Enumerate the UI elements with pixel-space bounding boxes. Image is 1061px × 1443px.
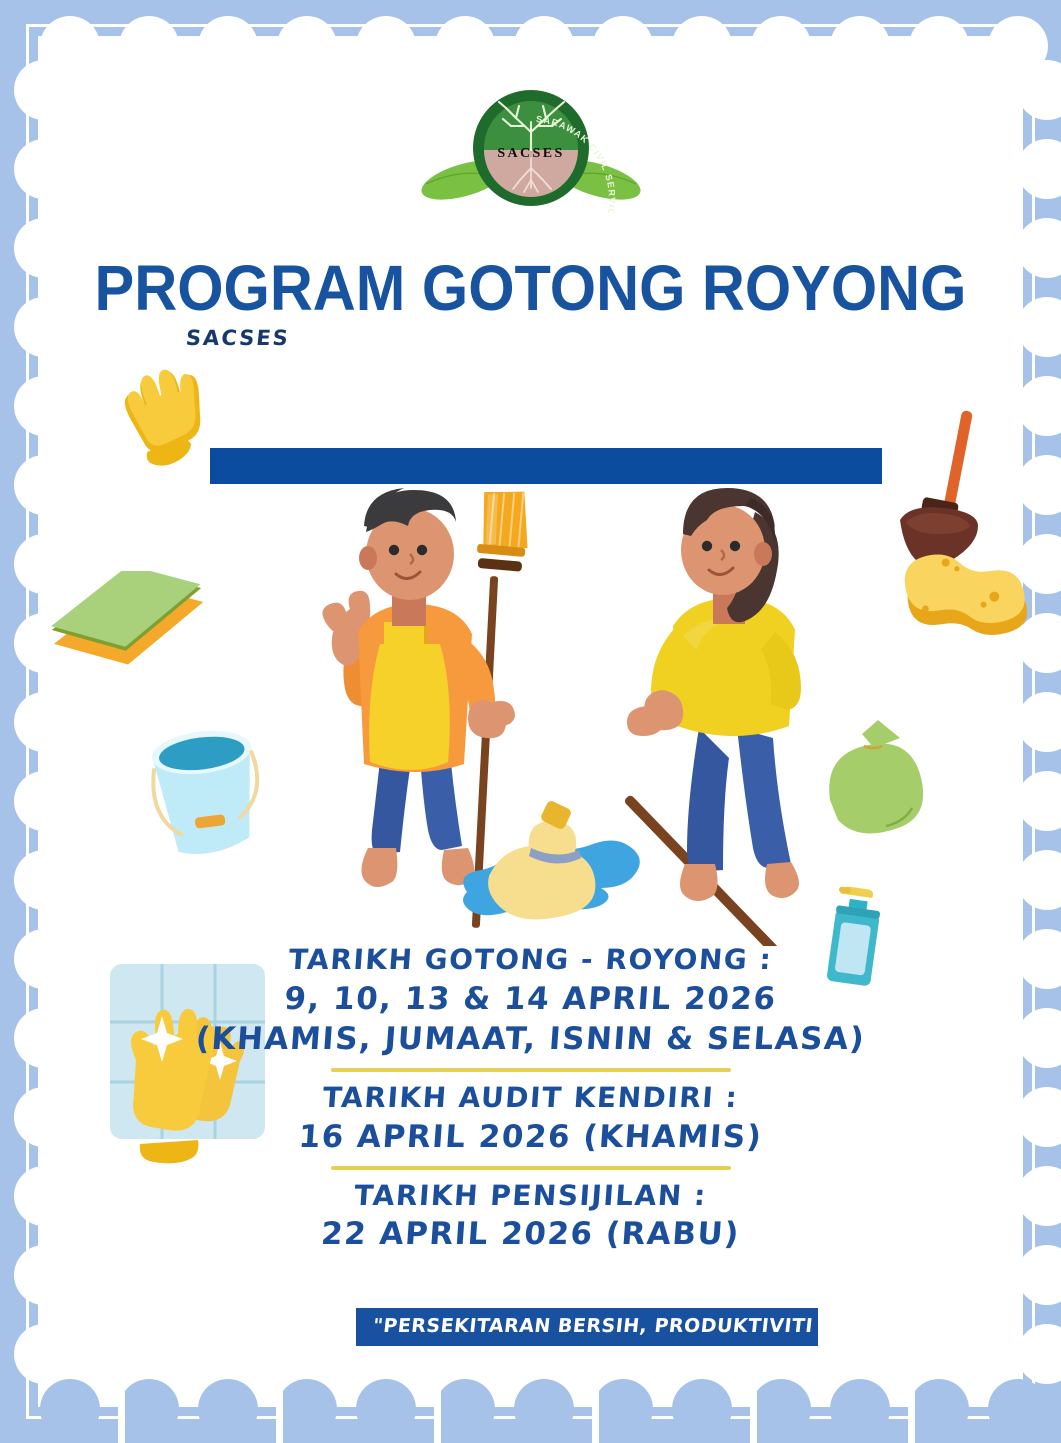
water-bucket-icon — [128, 726, 288, 871]
divider-rule-1 — [331, 1068, 731, 1072]
peanut-sponge-yellow-icon — [894, 528, 1054, 648]
audit-label: TARIKH AUDIT KENDIRI : — [37, 1079, 1025, 1117]
page-title: PROGRAM GOTONG ROYONG — [72, 251, 988, 325]
sacses-logo: SACSES SARAWAK CIVIL SERVICE ENVIRONMENT… — [416, 88, 646, 213]
poster-canvas: SACSES SARAWAK CIVIL SERVICE ENVIRONMENT… — [0, 0, 1061, 1443]
pensijilan-date: 22 APRIL 2026 (RABU) — [37, 1214, 1025, 1254]
tagline-banner: "PERSEKITARAN BERSIH, PRODUKTIVITI MENIN… — [356, 1308, 818, 1346]
audit-date: 16 APRIL 2026 (KHAMIS) — [37, 1117, 1025, 1157]
poster-content: SACSES SARAWAK CIVIL SERVICE ENVIRONMENT… — [38, 36, 1023, 1407]
gotong-royong-date: 9, 10, 13 & 14 APRIL 2026 — [37, 979, 1025, 1019]
girl-with-mop-illustration — [603, 476, 853, 951]
logo-center-text: SACSES — [497, 146, 564, 161]
page-subtitle: SACSES — [185, 326, 291, 350]
gotong-royong-label: TARIKH GOTONG - ROYONG : — [37, 941, 1025, 979]
pensijilan-label: TARIKH PENSIJILAN : — [37, 1177, 1025, 1215]
gotong-royong-days: (KHAMIS, JUMAAT, ISNIN & SELASA) — [37, 1019, 1025, 1059]
gloves-pair-top-left-icon — [96, 354, 226, 489]
tagline-text: "PERSEKITARAN BERSIH, PRODUKTIVITI MENIN… — [372, 1315, 818, 1337]
scrub-sponge-green-icon — [30, 571, 215, 686]
divider-rule-2 — [331, 1166, 731, 1170]
dates-block: TARIKH GOTONG - ROYONG : 9, 10, 13 & 14 … — [38, 941, 1023, 1255]
